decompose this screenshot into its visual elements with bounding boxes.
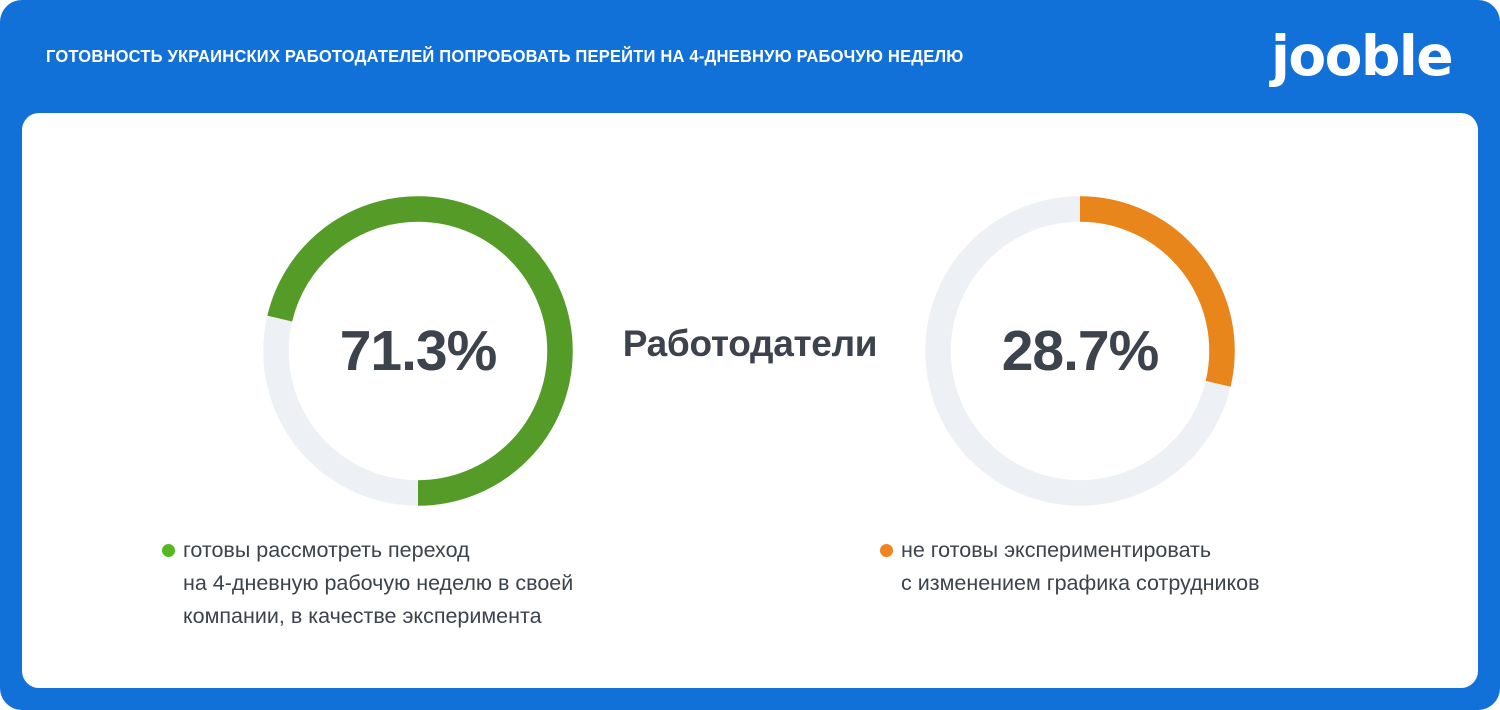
legend-dot-orange-icon [880,544,893,557]
jooble-logo: jooble [1271,29,1454,84]
page-title: ГОТОВНОСТЬ УКРАИНСКИХ РАБОТОДАТЕЛЕЙ ПОПР… [46,47,964,66]
charts-row: 71.3% Работодатели 28.7% [22,113,1478,553]
header-bar: ГОТОВНОСТЬ УКРАИНСКИХ РАБОТОДАТЕЛЕЙ ПОПР… [0,0,1500,113]
content-card: 71.3% Работодатели 28.7% готовы рассмотр… [22,113,1478,688]
legend-dot-green-icon [162,544,175,557]
center-label-employers: Работодатели [593,323,907,365]
legend-label-ready: готовы рассмотреть переход на 4-дневную … [183,534,573,633]
donut-chart-notready: 28.7% [925,196,1235,506]
donut-chart-ready: 71.3% [263,196,573,506]
legend-item-ready: готовы рассмотреть переход на 4-дневную … [162,534,722,633]
legend-label-notready: не готовы экспериментировать с изменение… [901,534,1260,600]
donut-value-ready: 71.3% [263,196,573,506]
infographic-poster: ГОТОВНОСТЬ УКРАИНСКИХ РАБОТОДАТЕЛЕЙ ПОПР… [0,0,1500,710]
legend-item-notready: не готовы экспериментировать с изменение… [880,534,1400,600]
donut-value-notready: 28.7% [925,196,1235,506]
